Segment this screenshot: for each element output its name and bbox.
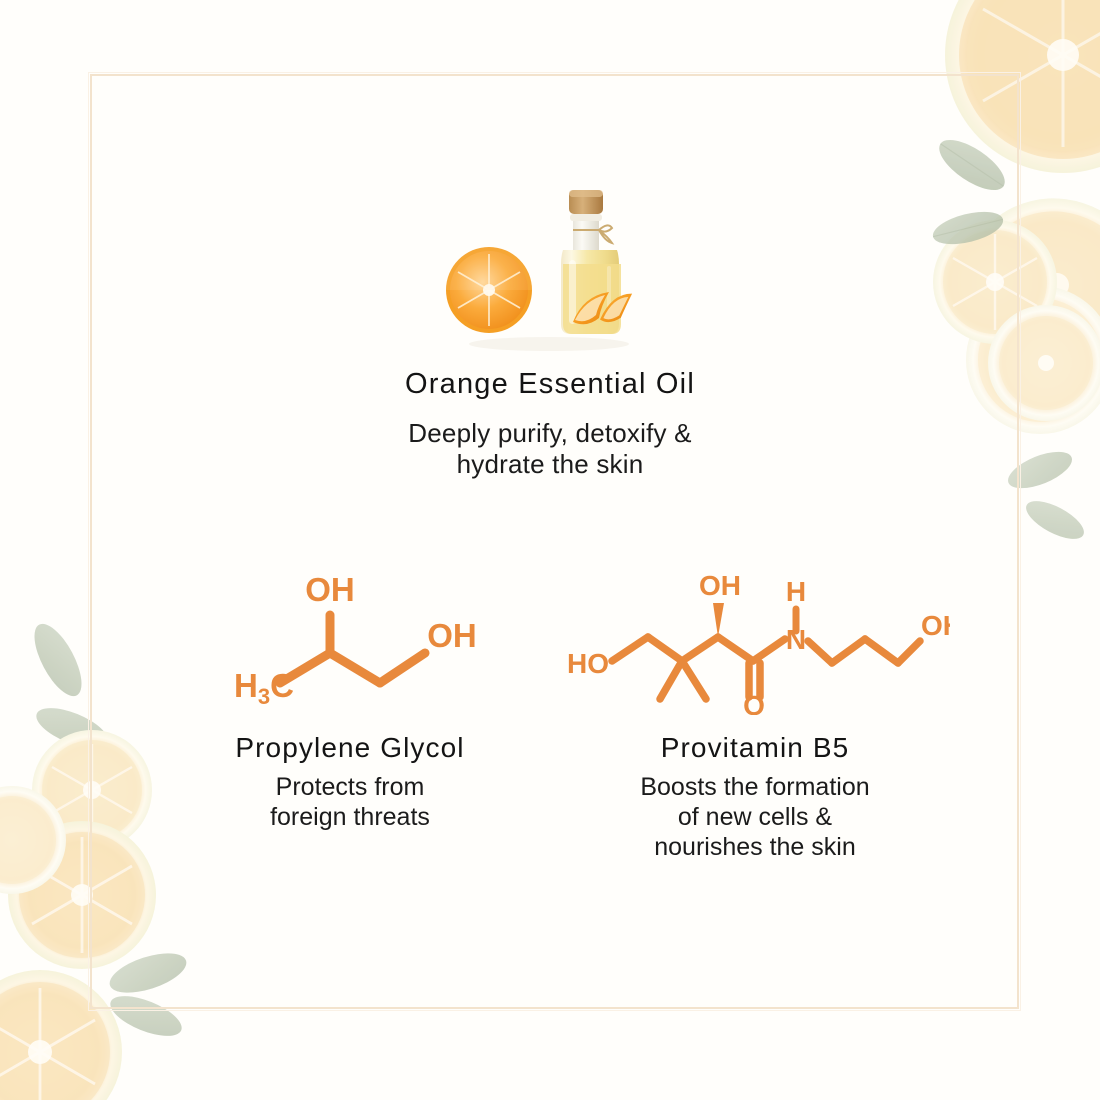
label-oh: OH	[305, 571, 355, 608]
ingredient-card-provitamin-b5: HO OH H N O OH Provitamin B5 Boosts the …	[545, 560, 965, 862]
label-oh: OH	[921, 610, 950, 641]
orange-oil-bottle-photo	[0, 178, 1100, 356]
label-oh: OH	[427, 617, 477, 654]
ingredient-description-provitamin-b5: Boosts the formation of new cells & nour…	[545, 772, 965, 862]
label-o: O	[743, 690, 765, 715]
ingredient-title-provitamin-b5: Provitamin B5	[545, 732, 965, 764]
label-n: N	[786, 624, 806, 655]
panthenol-structure: HO OH H N O OH	[545, 560, 965, 720]
label-oh: OH	[699, 570, 741, 601]
ingredient-description-propylene-glycol: Protects from foreign threats	[140, 772, 560, 832]
label-h3c: H3C	[234, 667, 294, 709]
ingredient-title-propylene-glycol: Propylene Glycol	[140, 732, 560, 764]
propylene-glycol-structure: OH OH H3C	[140, 560, 560, 720]
ingredients-content: Orange Essential Oil Deeply purify, deto…	[0, 0, 1100, 1100]
label-ho: HO	[567, 648, 609, 679]
label-h: H	[786, 576, 806, 607]
poster-canvas: Orange Essential Oil Deeply purify, deto…	[0, 0, 1100, 1100]
ingredient-title-orange-essential-oil: Orange Essential Oil	[0, 368, 1100, 401]
ingredient-description-orange-essential-oil: Deeply purify, detoxify & hydrate the sk…	[0, 418, 1100, 480]
ingredient-card-propylene-glycol: OH OH H3C Propylene Glycol Protects from…	[140, 560, 560, 832]
